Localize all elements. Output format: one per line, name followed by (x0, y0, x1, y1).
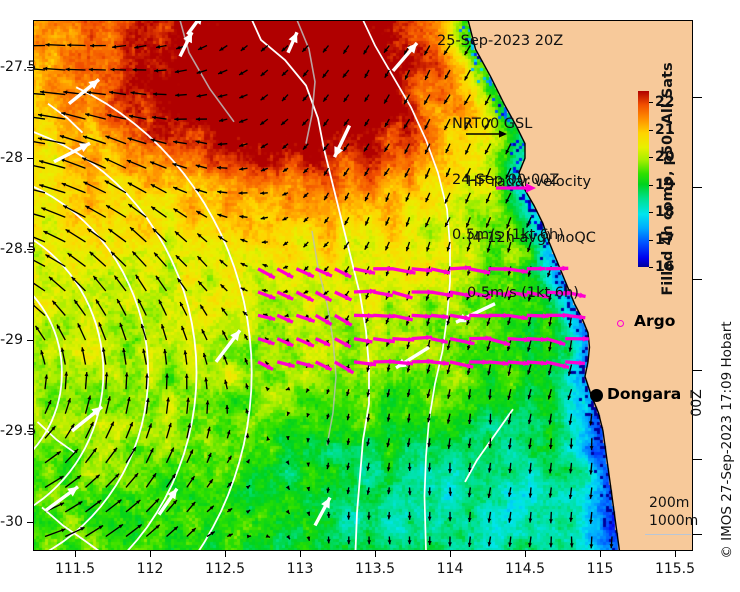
gsl-velocity-arrow-head (448, 517, 452, 521)
gsl-velocity-arrow-head (266, 534, 270, 538)
x-tick-label: 114.5 (505, 561, 545, 577)
gsl-velocity-arrow-head (468, 518, 472, 522)
gsl-velocity-arrow-head (105, 372, 109, 376)
gsl-velocity-arrow-head (218, 142, 222, 146)
right-tick-2 (693, 187, 702, 188)
hf-reference-arrow-icon (496, 182, 542, 194)
timestamp-annotation: 25-Sep-2023 20Z (437, 32, 563, 51)
right-tick-3 (693, 279, 702, 280)
right-tick-4 (693, 370, 702, 371)
gsl-velocity-arrow-head (260, 191, 264, 195)
colorbar-tick-mark (649, 185, 653, 186)
y-tick-mark (27, 340, 33, 341)
gsl-velocity-arrow-head (468, 420, 472, 424)
bathymetry-contour (252, 20, 369, 551)
gsl-velocity-arrow-head (89, 68, 93, 72)
hf-line-3: 0.5m/s (1kt 6h) (467, 284, 596, 303)
y-tick-label: -28 (0, 150, 23, 166)
colorbar-tick-mark (649, 267, 653, 268)
right-tick-1 (693, 97, 702, 98)
gsl-velocity-arrow-head (286, 387, 290, 391)
gsl-velocity-arrow-head (165, 374, 169, 378)
gsl-velocity-arrow-head (428, 491, 432, 495)
depth-legend-1000m: 1000m (649, 513, 698, 531)
gsl-velocity-arrow (33, 210, 45, 217)
gsl-velocity-arrow-head (240, 239, 244, 243)
gsl-velocity-arrow-head (590, 446, 594, 450)
gsl-velocity-arrow-head (64, 372, 68, 376)
x-tick-label: 114 (437, 561, 464, 577)
side-time-text: 00Z (689, 389, 705, 416)
y-tick-label: -29.5 (0, 423, 23, 439)
gsl-velocity-arrow-head (549, 543, 553, 547)
colorbar-title: Filled 4h comp, p50, All Sats (660, 62, 676, 295)
bathymetry-contour (42, 507, 99, 551)
bathymetry-contour (312, 231, 336, 446)
gsl-velocity-arrow-head (488, 396, 492, 400)
colorbar-tick-mark (649, 102, 653, 103)
y-tick-label: -28.5 (0, 241, 23, 257)
gsl-velocity-arrow-head (387, 515, 391, 519)
gsl-velocity-arrow-head (285, 460, 289, 464)
gsl-velocity-arrow-head (176, 46, 180, 50)
right-tick-5 (693, 459, 702, 460)
gsl-velocity-arrow-head (266, 387, 270, 391)
gsl-velocity-arrow-head (489, 420, 493, 424)
gsl-velocity-arrow (33, 162, 45, 168)
depth-contour-legend: 200m 1000m (649, 495, 698, 530)
hf-radar-legend-block: HF radar velocity (4-12h avg) noQC 0.5m/… (467, 136, 596, 340)
x-tick-label: 112 (137, 561, 164, 577)
gsl-velocity-arrow (33, 278, 45, 291)
colorbar-tick-mark (649, 240, 653, 241)
dongara-marker-label: Dongara (607, 385, 681, 403)
gsl-velocity-arrow-head (181, 326, 185, 330)
gsl-velocity-arrow-head (408, 540, 412, 544)
gsl-velocity-arrow-head (153, 92, 157, 96)
gsl-velocity-arrow-head (306, 388, 310, 392)
gsl-velocity-arrow-head (428, 541, 432, 545)
x-tick-label: 115 (587, 561, 614, 577)
gsl-velocity-arrow-head (246, 459, 250, 463)
gsl-velocity-arrow-head (227, 430, 231, 434)
gsl-velocity-arrow-head (448, 542, 452, 546)
gsl-velocity-arrow-head (128, 137, 132, 141)
gsl-velocity-arrow-head (83, 136, 87, 140)
gsl-velocity-arrow-head (426, 296, 430, 300)
gsl-velocity-arrow-head (185, 374, 189, 378)
imos-credit-text: © IMOS 27-Sep-2023 17:09 Hobart (719, 321, 735, 558)
gsl-velocity-arrow-head (148, 423, 152, 427)
bathymetry-contour (76, 87, 252, 551)
x-tick-mark (675, 551, 676, 557)
gsl-velocity-arrow-head (388, 540, 392, 544)
gsl-velocity-arrow-head (67, 43, 71, 47)
gsl-velocity-arrow-head (90, 44, 94, 48)
gsl-velocity-arrow-head (239, 191, 243, 195)
x-tick-label: 113 (287, 561, 314, 577)
x-tick-mark (225, 551, 226, 557)
x-tick-label: 111.5 (55, 561, 95, 577)
gsl-velocity-arrow-head (175, 93, 179, 97)
x-tick-label: 112.5 (205, 561, 245, 577)
bathymetry-contour (33, 266, 62, 480)
gsl-velocity-arrow-head (66, 68, 70, 72)
x-tick-mark (150, 551, 151, 557)
gsl-velocity-arrow-head (217, 166, 221, 170)
gsl-velocity-arrow-head (570, 543, 574, 547)
gsl-velocity-arrow-head (569, 518, 573, 522)
gsl-velocity-arrow-head (327, 539, 331, 543)
gsl-velocity-arrow-head (287, 411, 291, 415)
gsl-velocity-arrow-head (448, 492, 452, 496)
gsl-velocity-arrow-head (172, 163, 176, 167)
hf-radar-arrow-head (368, 313, 374, 319)
colorbar-tick-mark (649, 130, 653, 131)
bathymetry-contour (297, 20, 315, 144)
gsl-velocity-arrow-head (196, 117, 200, 121)
gsl-velocity-arrow-head (286, 535, 290, 539)
x-tick-label: 113.5 (355, 561, 395, 577)
bathymetry-contour (33, 224, 103, 521)
hf-radar-arrow-head (483, 359, 489, 365)
y-tick-label: -30 (0, 514, 23, 530)
gsl-velocity-arrow-head (246, 510, 250, 514)
y-tick-mark (27, 522, 33, 523)
y-tick-label: -29 (0, 332, 23, 348)
gsl-velocity-arrow-head (367, 516, 371, 520)
gsl-velocity-arrow (60, 159, 85, 168)
x-tick-label: 115.5 (655, 561, 695, 577)
gsl-velocity-arrow-head (306, 463, 310, 467)
gsl-velocity-arrow-head (549, 445, 553, 449)
bathymetry-contour (48, 104, 83, 133)
gsl-velocity-arrow-head (61, 529, 65, 533)
gsl-velocity-arrow-head (569, 445, 573, 449)
gsl-velocity-arrow-head (406, 222, 410, 226)
colorbar-tick-mark (649, 212, 653, 213)
gsl-velocity-arrow-head (306, 511, 310, 515)
figure-root: 25-Sep-2023 20Z NRT00 GSL 24-Sep 00:00Z … (0, 0, 740, 592)
gsl-velocity-arrow-head (262, 240, 266, 244)
gsl-velocity-arrow-head (307, 413, 311, 417)
hf-line-2: (4-12h avg) noQC (467, 229, 596, 248)
gsl-velocity-arrow-head (206, 400, 210, 404)
gsl-velocity-arrow (60, 136, 86, 144)
gsl-velocity-arrow-head (246, 485, 250, 489)
gsl-velocity-arrow-head (239, 143, 243, 147)
gsl-velocity-arrow-head (85, 372, 89, 376)
gsl-velocity-arrow-head (589, 544, 593, 548)
gsl-velocity-arrow-head (286, 510, 290, 514)
gsl-velocity-arrow-head (120, 323, 124, 327)
gsl-velocity-arrow-head (366, 295, 370, 299)
gsl-velocity-arrow-head (406, 247, 410, 251)
gsl-velocity-arrow-head (448, 469, 452, 473)
gsl-velocity-arrow-head (408, 516, 412, 520)
x-tick-mark (300, 551, 301, 557)
gsl-velocity-arrow-head (133, 68, 137, 72)
gsl-velocity-arrow-head (225, 405, 229, 409)
dongara-marker-icon (590, 389, 603, 402)
colorbar-gradient (638, 91, 649, 267)
gsl-velocity-arrow-head (125, 372, 129, 376)
gsl-reference-arrow-icon (466, 128, 512, 140)
depth-legend-rule (645, 534, 691, 535)
gsl-velocity-arrow-head (347, 540, 351, 544)
gsl-velocity-arrow-head (549, 519, 553, 523)
colorbar[interactable] (638, 91, 649, 267)
gsl-velocity-arrow-head (610, 544, 614, 548)
gsl-velocity-arrow-head (67, 398, 71, 402)
depth-legend-200m: 200m (649, 495, 698, 513)
gsl-velocity-arrow-head (408, 491, 412, 495)
argo-marker-icon (617, 320, 624, 327)
gsl-velocity-arrow-head (428, 517, 432, 521)
x-tick-mark (450, 551, 451, 557)
gsl-velocity-arrow-head (386, 320, 390, 324)
gsl-velocity-arrow-head (488, 444, 492, 448)
gsl-velocity-arrow-head (154, 69, 158, 73)
y-tick-mark (27, 158, 33, 159)
argo-marker-label: Argo (634, 312, 675, 330)
gsl-velocity-arrow-head (347, 516, 351, 520)
gsl-velocity-arrow-head (428, 468, 432, 472)
x-tick-mark (75, 551, 76, 557)
gsl-velocity-arrow-head (111, 68, 115, 72)
gsl-velocity-arrow-head (327, 514, 331, 518)
gsl-velocity-arrow-head (223, 355, 227, 359)
gsl-velocity-arrow-head (45, 43, 49, 47)
gsl-velocity-arrow-head (286, 485, 290, 489)
x-tick-mark (600, 551, 601, 557)
gsl-velocity-arrow-head (367, 540, 371, 544)
right-tick-6 (693, 534, 702, 535)
x-tick-mark (525, 551, 526, 557)
colorbar-tick-mark (649, 157, 653, 158)
bathymetry-contour (33, 177, 148, 552)
y-tick-label: -27.5 (0, 59, 23, 75)
x-tick-mark (375, 551, 376, 557)
gsl-velocity-arrow-head (408, 467, 412, 471)
gsl-velocity-arrow-head (174, 117, 178, 121)
gsl-velocity-arrow-head (589, 470, 593, 474)
